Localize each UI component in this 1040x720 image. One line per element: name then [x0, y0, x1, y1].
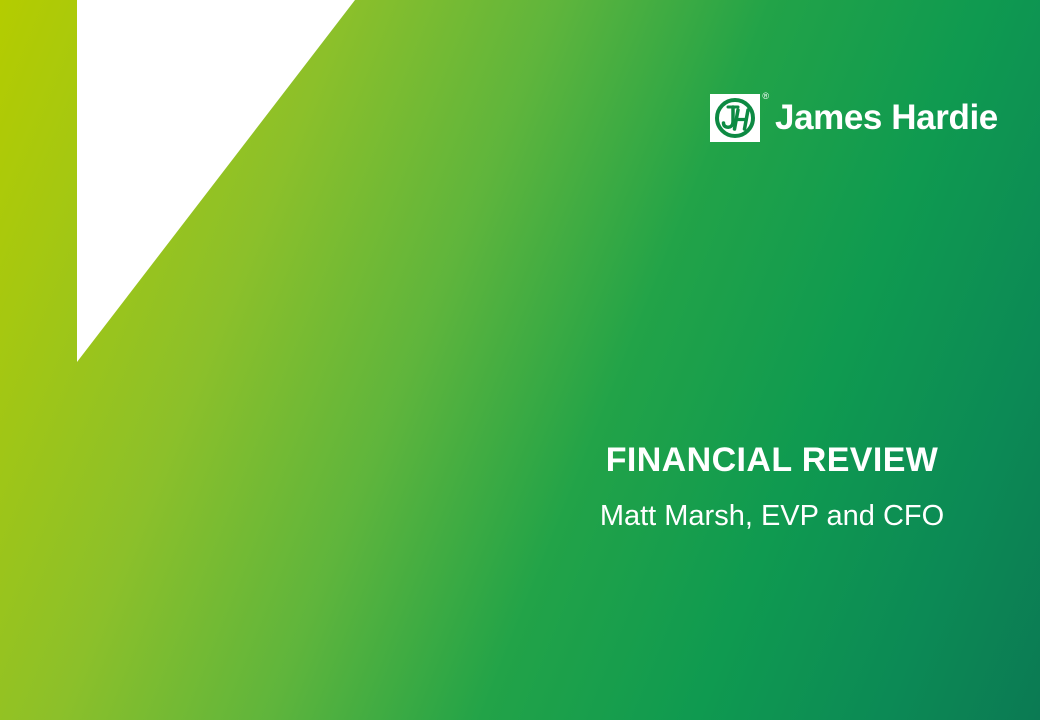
logo-mark-wrapper: ®	[710, 94, 760, 142]
title-block: FINANCIAL REVIEW Matt Marsh, EVP and CFO	[472, 440, 1040, 534]
slide-subtitle: Matt Marsh, EVP and CFO	[472, 499, 1040, 534]
slide-title: FINANCIAL REVIEW	[472, 440, 1040, 480]
jh-monogram-icon	[710, 94, 760, 142]
title-slide: ® James Hardie FINANCIAL REVIEW Matt Mar…	[0, 0, 1040, 720]
james-hardie-logo: ® James Hardie	[710, 92, 998, 144]
registered-trademark-icon: ®	[762, 92, 769, 101]
logo-wordmark: James Hardie	[775, 98, 998, 138]
